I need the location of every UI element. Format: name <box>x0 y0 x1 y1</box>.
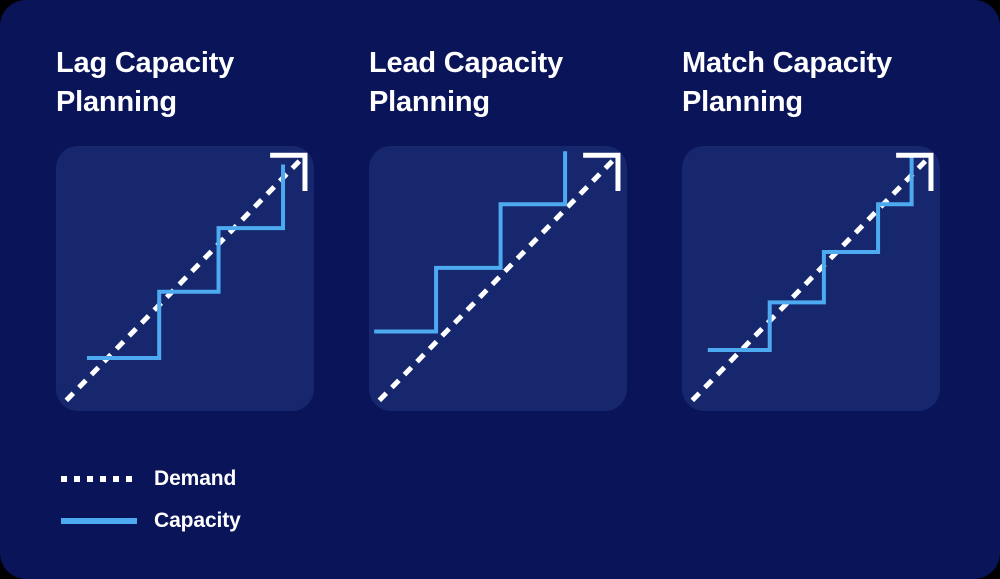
chart-card-lead <box>369 146 627 411</box>
chart-card-lag <box>56 146 314 411</box>
panel-title: Match Capacity Planning <box>682 44 944 122</box>
legend-item-capacity: Capacity <box>60 508 241 534</box>
panel-title: Lag Capacity Planning <box>56 44 318 122</box>
series-demand-line <box>66 157 303 401</box>
dotted-line-icon <box>60 475 138 483</box>
growth-arrow-icon <box>270 155 305 191</box>
panel-lag-capacity-planning: Lag Capacity Planning <box>56 44 318 411</box>
chart-lead <box>369 146 627 411</box>
chart-card-match <box>682 146 940 411</box>
legend-label-demand: Demand <box>154 467 236 491</box>
series-capacity-line <box>87 165 283 358</box>
chart-match <box>682 146 940 411</box>
solid-line-icon <box>60 517 138 525</box>
panel-match-capacity-planning: Match Capacity Planning <box>682 44 944 411</box>
legend-item-demand: Demand <box>60 466 241 492</box>
series-demand-line <box>379 157 616 401</box>
series-demand-line <box>692 157 929 401</box>
legend-swatch-solid-icon <box>60 512 138 530</box>
chart-legend: Demand Capacity <box>60 466 241 534</box>
legend-label-capacity: Capacity <box>154 509 241 533</box>
panel-title: Lead Capacity Planning <box>369 44 631 122</box>
growth-arrow-icon <box>583 155 618 191</box>
series-capacity-line <box>708 157 912 350</box>
legend-swatch-dotted-icon <box>60 470 138 488</box>
panels-row: Lag Capacity Planning Lead Capacity Plan… <box>56 44 944 411</box>
chart-lag <box>56 146 314 411</box>
capacity-planning-infographic: Lag Capacity Planning Lead Capacity Plan… <box>0 0 1000 579</box>
panel-lead-capacity-planning: Lead Capacity Planning <box>369 44 631 411</box>
